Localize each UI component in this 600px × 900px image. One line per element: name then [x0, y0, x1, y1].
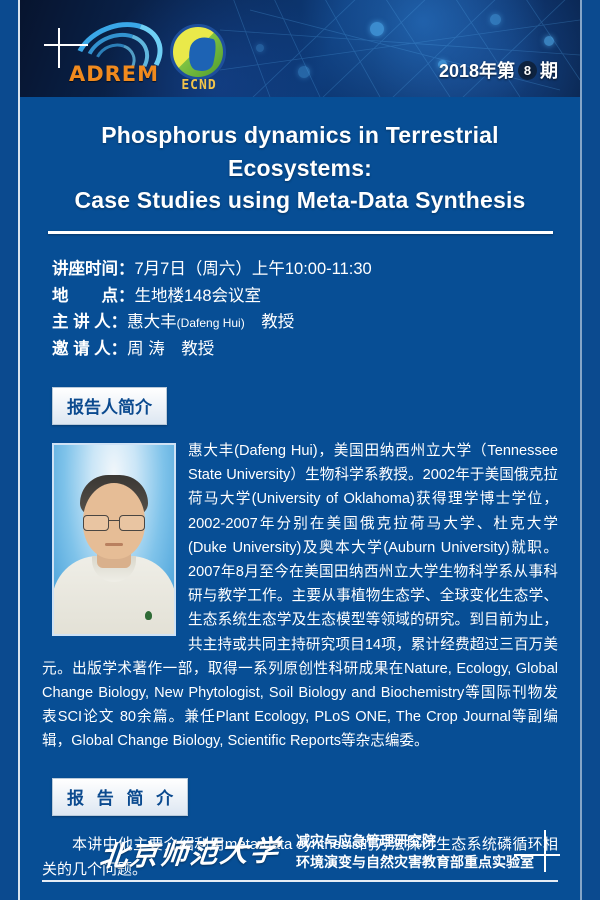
- adrem-logo: ADREM: [54, 22, 174, 88]
- info-label-time: 讲座时间：: [52, 256, 135, 283]
- network-dot: [298, 66, 310, 78]
- ecnd-logo-text: ECND: [168, 78, 230, 93]
- speaker-photo: [52, 443, 176, 636]
- ecnd-swoosh-icon: [186, 35, 219, 74]
- bnu-logo-text: 北京师范大学: [98, 829, 283, 875]
- title-line-1: Phosphorus dynamics in Terrestrial Ecosy…: [46, 119, 554, 184]
- info-value-time: 7月7日（周六）上午10:00-11:30: [135, 256, 372, 283]
- section-heading-speaker: 报告人简介: [52, 387, 167, 425]
- info-speaker-title: 教授: [245, 309, 295, 336]
- header-band: ADREM ECND 2018年第 8 期: [20, 0, 580, 97]
- issue-number-badge: 8: [518, 61, 537, 80]
- title-divider: [48, 231, 553, 234]
- section-heading-abstract: 报 告 简 介: [52, 778, 188, 816]
- info-speaker-latin-name: (Dafeng Hui): [177, 314, 245, 333]
- photo-mouth: [105, 543, 123, 546]
- info-row-time: 讲座时间： 7月7日（周六）上午10:00-11:30: [52, 256, 580, 283]
- network-dot: [370, 22, 384, 36]
- info-value-location: 生地楼148会议室: [135, 283, 262, 310]
- info-value-speaker: 惠大丰: [127, 309, 177, 336]
- footer-institute-names: 减灾与应急管理研究院 环境演变与自然灾害教育部重点实验室: [296, 831, 534, 874]
- photo-lens-left: [83, 515, 109, 531]
- adrem-logo-text: ADREM: [54, 62, 174, 86]
- frame-line-right: [580, 0, 582, 900]
- footer-divider: [42, 880, 558, 882]
- poster-root: ADREM ECND 2018年第 8 期 Phosphorus dynamic…: [0, 0, 600, 900]
- poster-body: Phosphorus dynamics in Terrestrial Ecosy…: [20, 97, 580, 900]
- issue-label: 2018年第 8 期: [439, 57, 558, 83]
- ecnd-logo: ECND: [168, 24, 238, 94]
- info-label-host: 邀 请 人：: [52, 336, 127, 363]
- info-row-host: 邀 请 人： 周 涛 教授: [52, 336, 580, 363]
- photo-shirt-logo: [145, 611, 152, 620]
- title-line-2: Case Studies using Meta-Data Synthesis: [46, 184, 554, 217]
- poster-footer: 北京师范大学 减灾与应急管理研究院 环境演变与自然灾害教育部重点实验室: [20, 814, 580, 900]
- info-row-location: 地 点： 生地楼148会议室: [52, 283, 580, 310]
- issue-suffix: 期: [540, 57, 558, 83]
- network-dot: [544, 36, 554, 46]
- footer-line-1: 减灾与应急管理研究院: [296, 831, 534, 853]
- info-value-host: 周 涛 教授: [127, 336, 214, 363]
- photo-glasses: [83, 515, 145, 530]
- info-label-location: 地 点：: [52, 283, 135, 310]
- info-row-speaker: 主 讲 人： 惠大丰 (Dafeng Hui) 教授: [52, 309, 580, 336]
- ecnd-disc-icon: [170, 24, 226, 80]
- event-info-list: 讲座时间： 7月7日（周六）上午10:00-11:30 地 点： 生地楼148会…: [52, 256, 580, 363]
- speaker-bio-block: 惠大丰(Dafeng Hui)，美国田纳西州立大学（Tennessee Stat…: [42, 439, 558, 754]
- frame-line-left: [18, 0, 20, 900]
- footer-line-2: 环境演变与自然灾害教育部重点实验室: [296, 852, 534, 874]
- photo-glasses-bridge: [108, 520, 120, 522]
- network-dot: [256, 44, 264, 52]
- footer-content: 北京师范大学 减灾与应急管理研究院 环境演变与自然灾害教育部重点实验室: [100, 831, 534, 874]
- photo-lens-right: [119, 515, 145, 531]
- info-label-speaker: 主 讲 人：: [52, 309, 127, 336]
- page-title: Phosphorus dynamics in Terrestrial Ecosy…: [46, 119, 554, 217]
- network-dot: [490, 14, 501, 25]
- issue-prefix: 2018年第: [439, 57, 515, 83]
